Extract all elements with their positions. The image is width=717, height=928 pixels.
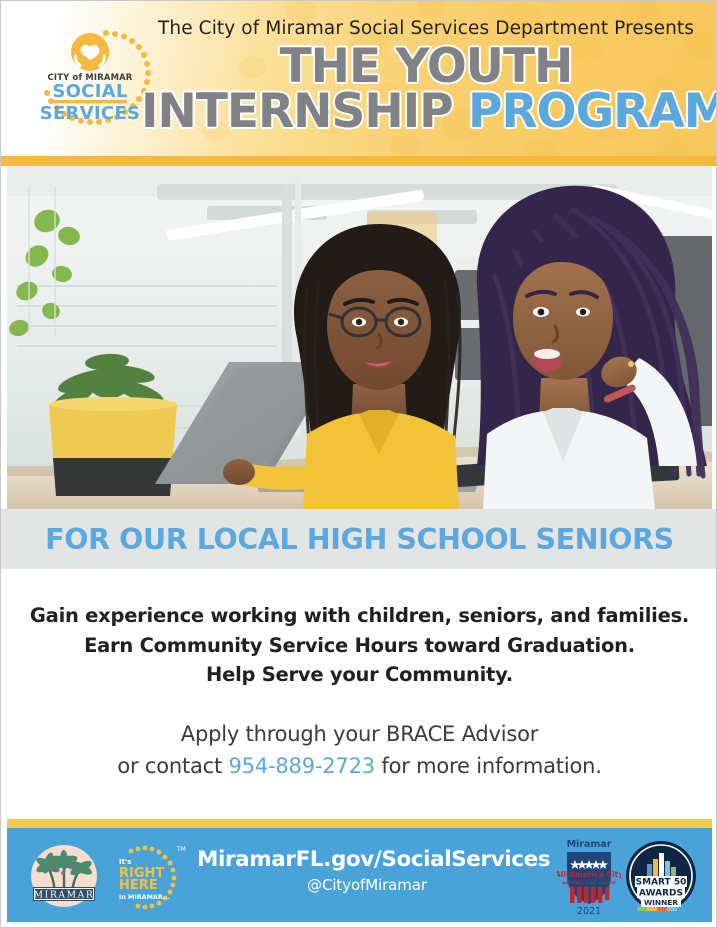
apply-line-2: or contact 954-889-2723 for more informa… bbox=[1, 751, 717, 783]
right-here-line-4: in MIRAMAR... bbox=[119, 893, 170, 901]
its-right-here-in-miramar-logo: TM It's RIGHT HERE in MIRAMAR... bbox=[115, 838, 189, 914]
apply-contact-prefix: or contact bbox=[117, 754, 228, 778]
hero-photo bbox=[7, 166, 712, 509]
logo-word-social: SOCIAL bbox=[52, 81, 127, 102]
social-handle[interactable]: @CityofMiramar bbox=[197, 876, 537, 894]
footer-bar: MIRAMAR TM It's RIGHT HERE bbox=[7, 828, 712, 922]
helping-hands-heart-icon bbox=[71, 33, 109, 71]
aac-city-name: Miramar bbox=[567, 839, 612, 850]
footer-gold-strip bbox=[7, 819, 712, 828]
right-here-line-1: It's bbox=[119, 858, 131, 866]
benefit-line-1: Gain experience working with children, s… bbox=[1, 601, 717, 631]
audience-banner: FOR OUR LOCAL HIGH SCHOOL SENIORS bbox=[1, 509, 717, 569]
title-line-internship-program: INTERNSHIP PROGRAM bbox=[141, 90, 711, 133]
apply-line-1: Apply through your BRACE Advisor bbox=[1, 719, 717, 751]
miramar-wordmark: MIRAMAR bbox=[34, 890, 95, 901]
aac-year: 2021 bbox=[577, 906, 601, 916]
aac-award-name: All-America City bbox=[557, 870, 621, 879]
apply-contact-suffix: for more information. bbox=[375, 754, 602, 778]
header-banner: CITY of MIRAMAR SOCIAL SERVICES The City… bbox=[1, 1, 717, 156]
footer-links: MiramarFL.gov/SocialServices @CityofMira… bbox=[197, 848, 537, 894]
website-url[interactable]: MiramarFL.gov/SocialServices bbox=[197, 848, 537, 873]
contact-phone-number[interactable]: 954-889-2723 bbox=[229, 754, 375, 778]
city-of-miramar-seal: MIRAMAR bbox=[25, 843, 103, 911]
benefit-line-2: Earn Community Service Hours toward Grad… bbox=[1, 631, 717, 661]
social-services-logo: CITY of MIRAMAR SOCIAL SERVICES bbox=[25, 27, 157, 147]
presents-eyebrow-text: The City of Miramar Social Services Depa… bbox=[146, 18, 706, 39]
header-gold-divider bbox=[1, 156, 717, 166]
trademark-symbol: TM bbox=[176, 846, 186, 853]
right-here-line-3: HERE bbox=[119, 878, 158, 893]
flyer-page: CITY of MIRAMAR SOCIAL SERVICES The City… bbox=[0, 0, 717, 928]
smart50-line-1: SMART 50 bbox=[636, 878, 687, 888]
audience-banner-text: FOR OUR LOCAL HIGH SCHOOL SENIORS bbox=[45, 523, 674, 556]
benefit-line-3: Help Serve your Community. bbox=[1, 660, 717, 690]
title-word-program: PROGRAM bbox=[468, 84, 717, 139]
aac-org-name: NATIONAL CIVIC LEAGUE bbox=[562, 880, 616, 885]
flyer-title: THE YOUTH INTERNSHIP PROGRAM bbox=[141, 45, 711, 133]
all-america-city-award-badge: Miramar All-America City NATIONAL CIVIC … bbox=[557, 836, 621, 916]
apply-instructions-block: Apply through your BRACE Advisor or cont… bbox=[1, 719, 717, 783]
title-word-internship: INTERNSHIP bbox=[141, 84, 453, 139]
logo-word-services: SERVICES bbox=[40, 103, 141, 124]
smart-50-awards-winner-badge: SMART 50 AWARDS WINNER bbox=[625, 840, 697, 912]
benefits-block: Gain experience working with children, s… bbox=[1, 601, 717, 690]
smart50-line-3: WINNER bbox=[644, 898, 678, 907]
title-line-the-youth: THE YOUTH bbox=[141, 45, 711, 88]
